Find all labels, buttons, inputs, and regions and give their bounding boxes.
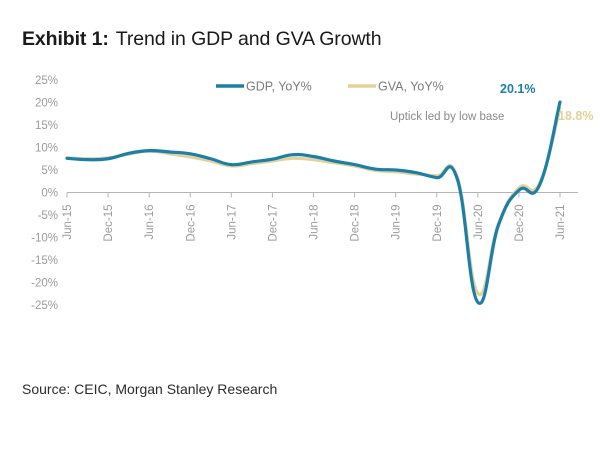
chart-area: 25%20%15%10%5%0%-5%-10%-15%-20%-25% Jun-… — [0, 60, 600, 375]
page-title: Exhibit 1:Trend in GDP and GVA Growth — [22, 28, 382, 51]
legend-label-gva: GVA, YoY% — [378, 80, 444, 94]
y-axis-tick-label: -5% — [38, 210, 58, 222]
x-axis-tick-label: Jun-18 — [309, 205, 321, 240]
x-axis-tick-label: Jun-21 — [555, 205, 567, 240]
x-axis-tick-label: Dec-15 — [103, 205, 115, 242]
x-axis-tick-label: Jun-19 — [391, 205, 403, 240]
y-axis-tick-label: -15% — [31, 255, 58, 267]
y-axis-tick-label: 5% — [41, 165, 58, 177]
gdp-end-value-label: 20.1% — [500, 82, 535, 96]
x-axis-tick-label: Dec-20 — [514, 205, 526, 242]
legend-label-gdp: GDP, YoY% — [246, 80, 312, 94]
y-axis-tick-label: 25% — [35, 75, 58, 87]
y-axis-tick-label: -20% — [31, 278, 58, 290]
x-axis-tick-group: Jun-15Dec-15Jun-16Dec-16Jun-17Dec-17Jun-… — [62, 205, 567, 242]
gva-end-value-label: 18.8% — [558, 109, 593, 123]
series-group — [67, 102, 560, 303]
gdp-gva-line-chart: 25%20%15%10%5%0%-5%-10%-15%-20%-25% Jun-… — [0, 60, 600, 375]
x-axis-tick-label: Dec-18 — [350, 205, 362, 242]
uptick-annotation: Uptick led by low base — [390, 111, 504, 123]
x-axis-tick-label: Jun-16 — [144, 205, 156, 240]
x-axis-tick-label: Dec-16 — [185, 205, 197, 242]
x-axis-tick-label: Jun-17 — [226, 205, 238, 240]
exhibit-title-text: Trend in GDP and GVA Growth — [116, 28, 382, 50]
exhibit-number-label: Exhibit 1: — [22, 28, 109, 50]
x-axis-tick-label: Jun-20 — [473, 205, 485, 240]
series-line-gdp — [67, 102, 560, 303]
x-axis-tick-label: Dec-17 — [267, 205, 279, 242]
x-axis-tick-label: Dec-19 — [432, 205, 444, 242]
y-axis-tick-label: -10% — [31, 233, 58, 245]
y-axis-tick-label: 0% — [41, 188, 58, 200]
x-axis-tick-label: Jun-15 — [62, 205, 74, 240]
legend-group: GDP, YoY%GVA, YoY% — [216, 80, 444, 94]
exhibit-panel: Exhibit 1:Trend in GDP and GVA Growth 25… — [0, 0, 600, 450]
y-axis-tick-label: 15% — [35, 120, 58, 132]
y-axis-tick-label: 20% — [35, 98, 58, 110]
y-axis-tick-label: 10% — [35, 143, 58, 155]
y-axis-tick-label: -25% — [31, 300, 58, 312]
series-line-gva — [67, 108, 560, 295]
zero-axis-line-group — [67, 193, 578, 198]
y-axis-tick-group: 25%20%15%10%5%0%-5%-10%-15%-20%-25% — [31, 75, 58, 312]
source-note: Source: CEIC, Morgan Stanley Research — [22, 381, 277, 397]
